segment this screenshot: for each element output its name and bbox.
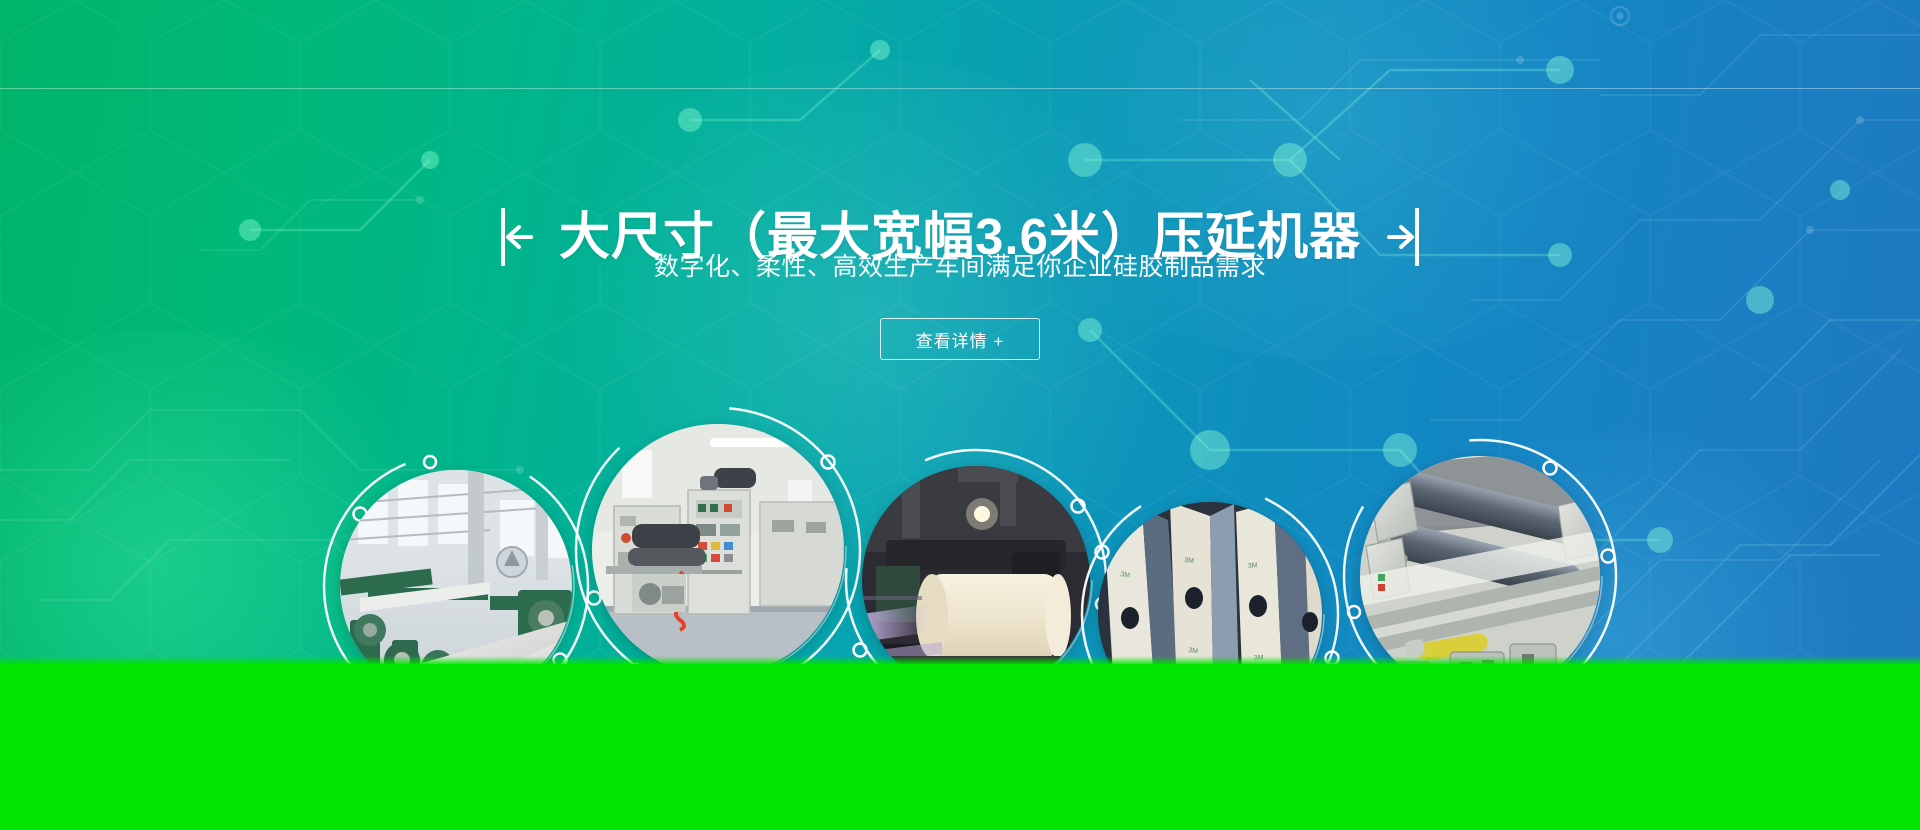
photo-circle-3[interactable] xyxy=(862,466,1090,665)
photo-circle-2[interactable] xyxy=(592,424,844,665)
photo-circle-1-image xyxy=(340,470,572,665)
banner-stage: 大尺寸（最大宽幅3.6米）压延机器 数字化、柔性、高效生产车间满足你企业硅胶制品… xyxy=(0,0,1920,830)
photo-circle-5[interactable] xyxy=(1360,456,1600,665)
photo-circle-3-image xyxy=(862,466,1090,665)
photo-circle-group: 3M 3M 3M 3M 3M xyxy=(0,0,1920,665)
photo-circle-1[interactable] xyxy=(340,470,572,665)
page-body-area xyxy=(0,664,1920,830)
photo-circle-5-image xyxy=(1360,456,1600,665)
photo-circle-2-image xyxy=(592,424,844,665)
chroma-edge-fade xyxy=(0,656,1920,665)
photo-circle-4[interactable]: 3M 3M 3M 3M 3M xyxy=(1098,502,1322,665)
photo-circle-4-image: 3M 3M 3M 3M 3M xyxy=(1098,502,1322,665)
svg-text:3M: 3M xyxy=(1248,562,1258,570)
hero-banner: 大尺寸（最大宽幅3.6米）压延机器 数字化、柔性、高效生产车间满足你企业硅胶制品… xyxy=(0,0,1920,665)
svg-text:3M: 3M xyxy=(1184,557,1195,565)
svg-text:3M: 3M xyxy=(1188,647,1199,655)
